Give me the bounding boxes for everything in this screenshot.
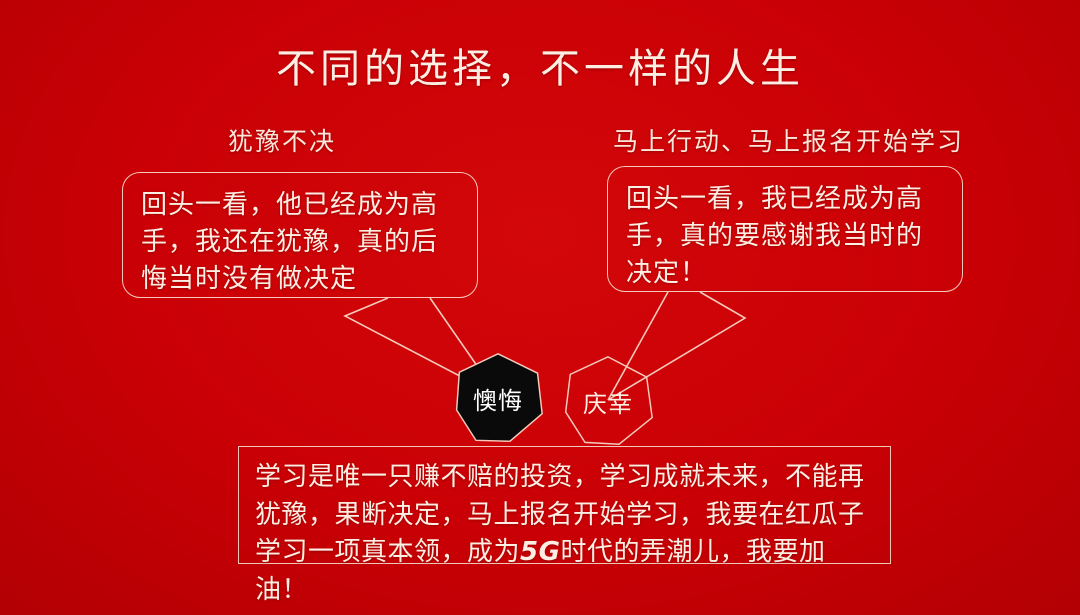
node-glad: 庆幸 <box>562 355 654 447</box>
node-regret-label: 懊悔 <box>452 352 544 444</box>
page-title: 不同的选择，不一样的人生 <box>0 36 1080 94</box>
slide-canvas: 不同的选择，不一样的人生 犹豫不决 马上行动、马上报名开始学习 回头一看，他已经… <box>0 0 1080 615</box>
conclusion-box: 学习是唯一只赚不赔的投资，学习成就未来，不能再犹豫，果断决定，马上报名开始学习，… <box>238 446 891 564</box>
conclusion-highlight-5g: 5G <box>520 537 560 567</box>
column-heading-right: 马上行动、马上报名开始学习 <box>613 122 964 158</box>
speech-bubble-right: 回头一看，我已经成为高手，真的要感谢我当时的决定！ <box>607 166 963 292</box>
node-glad-label: 庆幸 <box>562 355 654 447</box>
speech-bubble-left: 回头一看，他已经成为高手，我还在犹豫，真的后悔当时没有做决定 <box>122 172 478 298</box>
column-heading-left: 犹豫不决 <box>228 122 336 158</box>
node-regret: 懊悔 <box>452 352 544 444</box>
